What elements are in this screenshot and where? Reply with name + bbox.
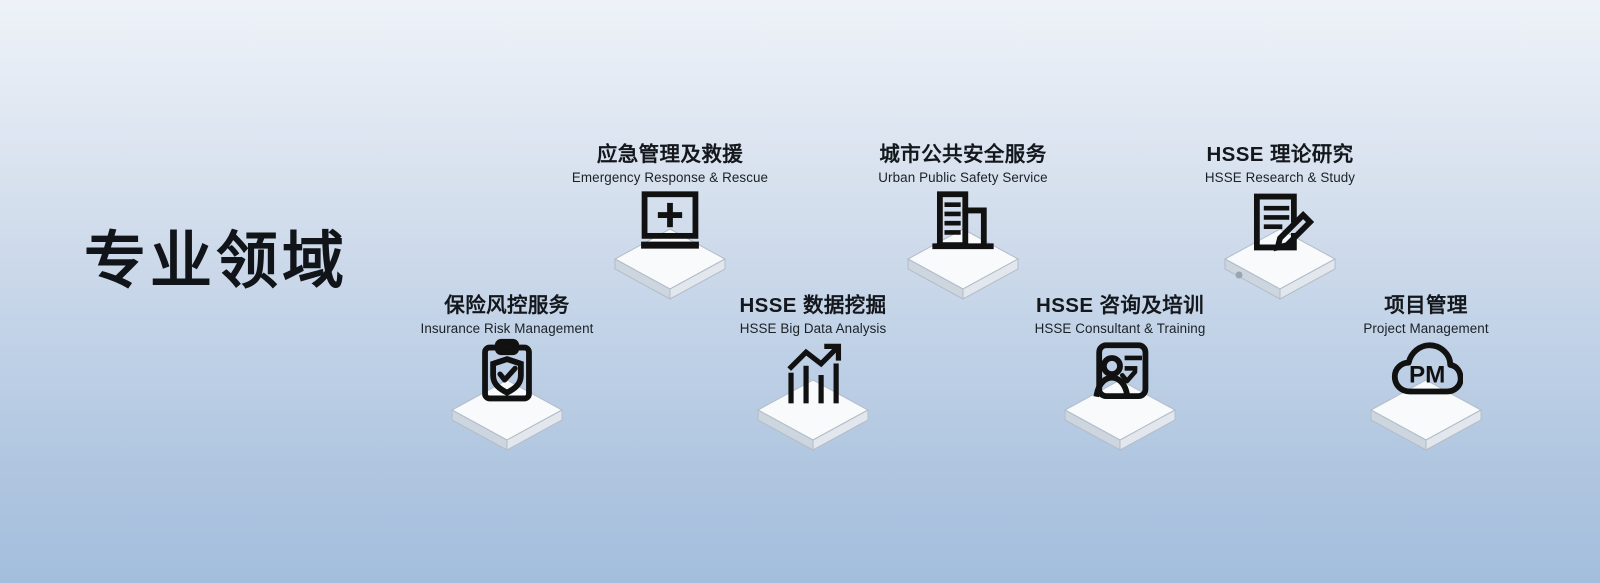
buildings-icon xyxy=(926,185,1000,259)
card-visual xyxy=(838,193,1088,303)
card-subtitle: Insurance Risk Management xyxy=(382,321,632,336)
card-title: HSSE 数据挖掘 xyxy=(688,295,938,318)
id-card-person-icon xyxy=(1083,336,1157,410)
card-subtitle: HSSE Research & Study xyxy=(1155,170,1405,185)
card-subtitle: Urban Public Safety Service xyxy=(838,170,1088,185)
monitor-medical-plus-icon xyxy=(633,185,707,259)
domain-card-project-management[interactable]: 项目管理 Project Management PM xyxy=(1301,295,1551,454)
bar-chart-trend-up-icon xyxy=(776,336,850,410)
card-title: 应急管理及救援 xyxy=(545,144,795,167)
domain-card-hsse-consultant-training[interactable]: HSSE 咨询及培训 HSSE Consultant & Training xyxy=(995,295,1245,454)
domain-card-hsse-big-data-analysis[interactable]: HSSE 数据挖掘 HSSE Big Data Analysis xyxy=(688,295,938,454)
card-subtitle: HSSE Big Data Analysis xyxy=(688,321,938,336)
card-visual xyxy=(688,344,938,454)
card-subtitle: Emergency Response & Rescue xyxy=(545,170,795,185)
page-title: 专业领域 xyxy=(84,231,348,293)
domain-card-emergency-response-rescue[interactable]: 应急管理及救援 Emergency Response & Rescue xyxy=(545,144,795,303)
domain-card-urban-public-safety-service[interactable]: 城市公共安全服务 Urban Public Safety Service xyxy=(838,144,1088,303)
cloud-pm-label: PM xyxy=(1409,362,1445,389)
card-visual xyxy=(995,344,1245,454)
domain-card-insurance-risk-management[interactable]: 保险风控服务 Insurance Risk Management xyxy=(382,295,632,454)
cloud-pm-icon: PM xyxy=(1389,336,1463,410)
card-visual xyxy=(1155,193,1405,303)
document-pencil-icon xyxy=(1243,185,1317,259)
domain-card-hsse-research-study[interactable]: HSSE 理论研究 HSSE Research & Study xyxy=(1155,144,1405,303)
clipboard-shield-check-icon xyxy=(470,336,544,410)
card-title: 保险风控服务 xyxy=(382,295,632,318)
card-visual xyxy=(545,193,795,303)
card-subtitle: HSSE Consultant & Training xyxy=(995,321,1245,336)
card-title: HSSE 咨询及培训 xyxy=(995,295,1245,318)
card-subtitle: Project Management xyxy=(1301,321,1551,336)
card-title: 城市公共安全服务 xyxy=(838,144,1088,167)
card-visual: PM xyxy=(1301,344,1551,454)
card-visual xyxy=(382,344,632,454)
card-title: 项目管理 xyxy=(1301,295,1551,318)
card-title: HSSE 理论研究 xyxy=(1155,144,1405,167)
